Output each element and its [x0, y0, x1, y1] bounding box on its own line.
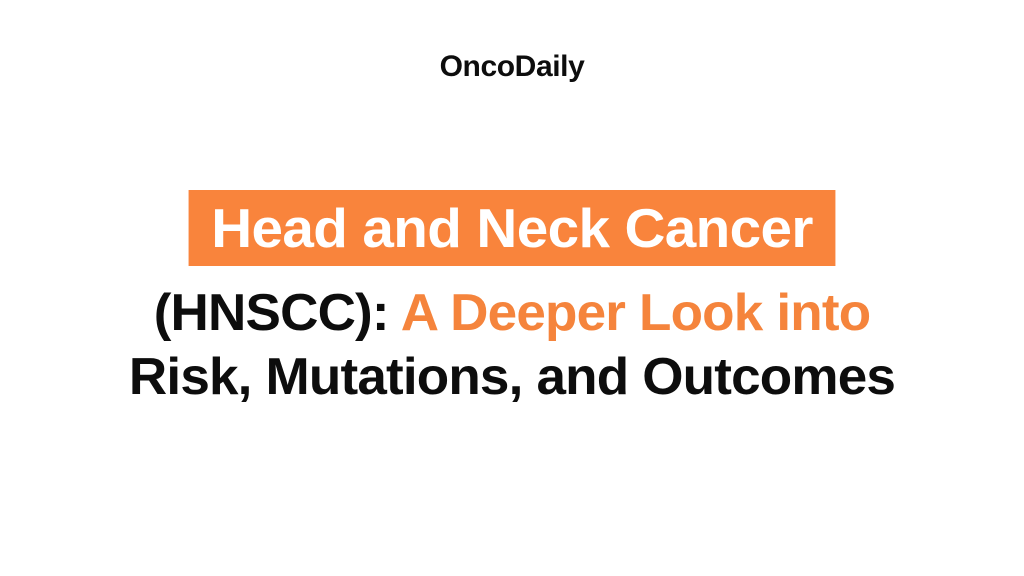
brand-name: OncoDaily: [0, 50, 1024, 83]
slide-canvas: OncoDaily Head and Neck Cancer (HNSCC): …: [0, 0, 1024, 576]
title-highlight-banner: Head and Neck Cancer: [189, 190, 836, 266]
title-block: Head and Neck Cancer (HNSCC): A Deeper L…: [0, 190, 1024, 406]
title-line-2-accent: A Deeper Look into: [401, 284, 871, 342]
title-line-2: (HNSCC): A Deeper Look into: [0, 284, 1024, 342]
title-line-2-prefix: (HNSCC):: [154, 284, 401, 342]
title-line-3: Risk, Mutations, and Outcomes: [0, 348, 1024, 406]
title-line-1-wrap: Head and Neck Cancer: [0, 190, 1024, 266]
